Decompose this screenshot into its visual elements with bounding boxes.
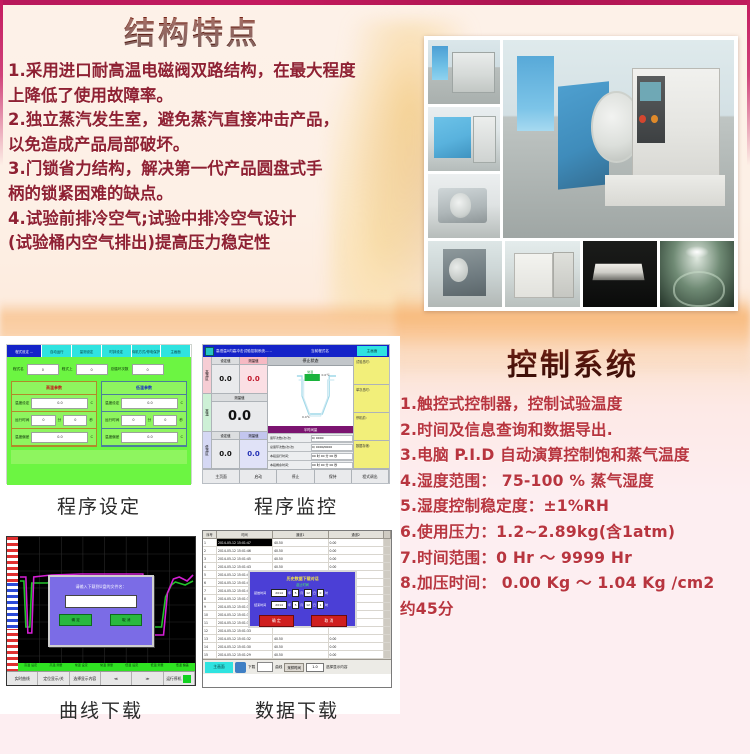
p2-main-screen-button[interactable]: 主画面 <box>357 346 387 356</box>
p1-param-label: 温度偏差 <box>15 435 29 440</box>
p2-high-temp-group: 高温区 设定值 0.0 测量值 0.0 <box>203 357 267 394</box>
cell-scroll <box>384 627 391 634</box>
p1-high-temp-group: 高温参数 温度设定 0.0 C 运行时间 0 分 0 秒 温度偏差 <box>11 381 97 447</box>
p1-param-unit: 分 <box>148 418 152 423</box>
p3-cancel-button[interactable]: 取 消 <box>110 614 142 626</box>
cell-time: 2014-05-12 15:01:30 <box>217 643 273 650</box>
p2-cell-measured: 测量值 0.0 <box>239 432 267 468</box>
cell-index: 15 <box>203 651 217 658</box>
p1-param-input[interactable]: 0 <box>121 415 145 426</box>
cell-index: 12 <box>203 627 217 634</box>
cell-scroll <box>384 571 391 578</box>
p1-tab-measure-setting[interactable]: 量测设定 <box>72 345 102 357</box>
feature-line: 3.门锁省力结构，解决第一代产品圆盘式手 <box>8 157 406 182</box>
p4-month-unit: 月 <box>300 591 303 595</box>
p4-ok-button[interactable]: 确 定 <box>259 615 295 627</box>
cell-ch2: 0.00 <box>329 563 385 570</box>
cell-scroll <box>384 611 391 618</box>
p4-interval-label: 采样时间 <box>284 663 304 672</box>
p2-side-info-column: 试验总时： 单次总时： 停机前： 数据存储： <box>353 357 389 469</box>
cell-index: 11 <box>203 619 217 626</box>
cell-ch1: 40.50 <box>273 643 329 650</box>
table-row[interactable]: 14 2014-05-12 15:01:30 40.50 0.00 <box>203 643 391 651</box>
p4-row-label: 起始时间 <box>254 591 270 595</box>
p2-cell-measured: 测量值 0.0 <box>211 394 267 430</box>
p3-scale-blue <box>7 583 18 629</box>
p2-info-row: 总循环次数(次/次) 0/ 0000/0000 <box>268 442 353 451</box>
p3-ok-button[interactable]: 确 定 <box>59 614 91 626</box>
cell-scroll <box>384 579 391 586</box>
p1-param-row: 运行时间 0 分 0 秒 <box>12 412 96 429</box>
p1-field-label: 程式名 <box>13 367 24 372</box>
caption-program-monitor: 程序监控 <box>202 492 390 519</box>
p1-footer-strip <box>11 450 187 464</box>
cell-ch2: 0.00 <box>329 651 385 658</box>
cell-ch2: 0.00 <box>329 547 385 554</box>
p4-day-input[interactable]: 12 <box>304 601 312 609</box>
p2-section-title: 半时间量 <box>268 426 353 433</box>
p1-param-unit: 分 <box>58 418 62 423</box>
features-list: 1.采用进口耐高温电磁阀双路结构，在最大程度 上降低了使用故障率。 2.独立蒸汽… <box>0 59 412 256</box>
p2-graph-top-label: 0.0℃ <box>322 373 330 377</box>
p2-side-box-label: 试验总时： <box>356 360 372 364</box>
p2-status-label: 停止状态 <box>268 357 353 366</box>
p1-param-row: 温度设定 0.0 C <box>102 395 186 412</box>
cell-time: 2014-05-12 15:01:33 <box>217 627 273 634</box>
p1-field-input[interactable]: 0 <box>132 364 164 375</box>
p3-button-realtime-curve[interactable]: 实时曲线 <box>7 672 38 685</box>
cell-time: 2014-05-12 15:01:29 <box>217 651 273 658</box>
p1-param-label: 运行时间 <box>105 418 119 423</box>
control-system-section: 控制系统 1.触控式控制器，控制试验温度 2.时间及信息查询和数据导出. 3.电… <box>396 340 750 622</box>
cell-time: 2014-05-12 15:01:43 <box>217 563 273 570</box>
p2-graph-bottom-label: 0.0℃ <box>302 415 310 419</box>
p1-param-row: 温度偏差 0.0 C <box>102 429 186 446</box>
p2-info-label: 本段运行时间： <box>268 454 311 458</box>
caption-curve-download: 曲线下载 <box>6 696 196 723</box>
collage-left-column <box>428 40 500 238</box>
cell-index: 6 <box>203 579 217 586</box>
p3-filename-dialog: 请输入下载到U盘的文件名： 确 定 取 消 <box>48 575 153 646</box>
cell-scroll <box>384 643 391 650</box>
p2-side-box: 单次总时： <box>354 385 389 413</box>
control-line: 8.加压时间： 0.00 Kg ～ 1.04 Kg /cm2 <box>400 571 750 597</box>
p2-info-value: 0/ 0000 <box>311 435 353 442</box>
cell-scroll <box>384 539 391 546</box>
table-row[interactable]: 2 2014-05-12 15:01:46 40.50 0.00 <box>203 547 391 555</box>
p2-cell-header: 设定值 <box>212 432 239 440</box>
p4-interval-input[interactable]: 1.0 <box>306 663 324 672</box>
p1-field-input[interactable]: 0 <box>27 364 59 375</box>
p4-year-unit: 年 <box>288 591 291 595</box>
photo-inner-tunnel <box>660 241 734 307</box>
control-line: 5.湿度控制稳定度：±1%RH <box>400 494 750 520</box>
p1-parameter-columns: 高温参数 温度设定 0.0 C 运行时间 0 分 0 秒 温度偏差 <box>11 381 187 447</box>
p3-run-stop-label: 运行停机 <box>166 676 181 682</box>
p2-side-box-label: 单次总时： <box>356 388 372 392</box>
p4-table-header: 序号 时间 通道1 通道2 <box>203 531 391 539</box>
cell-time: 2014-05-12 15:01:47 <box>217 539 273 546</box>
table-row[interactable]: 15 2014-05-12 15:01:29 40.50 0.00 <box>203 651 391 659</box>
p2-graph-badge: 常温 <box>307 370 313 374</box>
cell-ch2: 0.00 <box>329 643 385 650</box>
p2-info-value: 0/ 0000/0000 <box>311 444 353 451</box>
control-line: 7.时间范围：0 Hr ～ 9999 Hr <box>400 546 750 572</box>
cell-scroll <box>384 619 391 626</box>
p4-day-input[interactable]: 12 <box>304 589 312 597</box>
p3-legend: 高温 设定 高温 测量 常温 设定 常温 测量 低温 设定 低温 测量 低温 偏… <box>18 663 195 671</box>
p1-param-label: 温度设定 <box>105 401 119 406</box>
cell-index: 9 <box>203 603 217 610</box>
p1-tab-main-screen[interactable]: 主画面 <box>161 345 191 357</box>
p2-cell-value: 0.0 <box>212 402 267 430</box>
p2-title-bar: 高低温0内高冲击试验控制系统...... 当前程式名 主画面 <box>203 345 389 357</box>
p2-current-program-label: 当前程式名 <box>311 349 357 354</box>
caption-program-setting: 程序设定 <box>6 492 192 519</box>
p1-param-label: 温度偏差 <box>105 435 119 440</box>
p1-param-input[interactable]: 0 <box>31 415 55 426</box>
p2-graph-column: 停止状态 常温 0.0℃ 0.0℃ 半时间量 循环次数(次/次) 0/ 00 <box>267 357 353 469</box>
control-line: 1.触控式控制器，控制试验温度 <box>400 392 750 418</box>
p4-dialog-start-row: 起始时间 2014 年 5 月 12 日 0 时 <box>250 587 355 599</box>
p1-tab-auto-run[interactable]: 自动运行 <box>42 345 72 357</box>
p2-cell-value: 0.0 <box>240 440 267 468</box>
p1-group-header: 低温参数 <box>102 382 186 395</box>
feature-line: 柄的锁紧困难的缺点。 <box>8 182 406 207</box>
p1-param-unit: C <box>180 401 183 405</box>
p1-param-unit-2: 秒 <box>179 418 183 423</box>
collage-top-row <box>428 40 734 238</box>
cell-index: 10 <box>203 611 217 618</box>
p2-cell-header: 测量值 <box>240 357 267 365</box>
p2-cells: 设定值 0.0 测量值 0.0 <box>211 357 267 393</box>
cell-index: 14 <box>203 643 217 650</box>
p4-hour-input[interactable]: 0 <box>317 589 324 597</box>
cell-index: 2 <box>203 547 217 554</box>
table-row[interactable]: 12 2014-05-12 15:01:33 <box>203 627 391 635</box>
p1-field-label: 程式上 <box>62 367 73 372</box>
photo-chamber-room-view <box>428 40 500 104</box>
cell-index: 7 <box>203 587 217 594</box>
photo-small-chamber <box>428 174 500 238</box>
cell-ch1: 40.50 <box>273 547 329 554</box>
cell-time: 2014-05-12 15:01:46 <box>217 547 273 554</box>
p2-cell-value: 0.0 <box>212 365 239 393</box>
table-row[interactable]: 1 2014-05-12 15:01:47 40.50 0.00 <box>203 539 391 547</box>
p4-history-download-dialog: 历史数据下载对话 起止时间 起始时间 2014 年 5 月 12 日 0 时 结… <box>248 570 357 628</box>
p4-day-unit: 日 <box>313 603 316 607</box>
p4-table-body: 1 2014-05-12 15:01:47 40.50 0.00 2 2014-… <box>203 539 391 659</box>
run-indicator-icon <box>183 675 191 683</box>
p1-param-input[interactable]: 0.0 <box>121 398 178 409</box>
p1-param-unit: C <box>180 435 183 439</box>
p1-group-header: 高温参数 <box>12 382 96 395</box>
p3-legend-item: 低温 测量 <box>144 663 169 671</box>
p2-cells: 设定值 0.0 测量值 0.0 <box>211 432 267 468</box>
control-heading: 控制系统 <box>396 340 750 384</box>
cell-scroll <box>384 587 391 594</box>
p3-dialog-prompt: 请输入下载到U盘的文件名： <box>50 577 151 590</box>
p1-tab-standby-mode[interactable]: 待机方式/停电保护 <box>132 345 162 357</box>
p2-side-box: 数据存储： <box>354 441 389 469</box>
p2-cycle-diagram: 常温 0.0℃ 0.0℃ <box>268 366 353 426</box>
p2-cell-value: 0.0 <box>212 440 239 468</box>
p1-tab-bar: 程式设定 ... 自动运行 量测设定 时钟设定 待机方式/停电保护 主画面 <box>7 345 191 357</box>
p2-side-box: 停机前： <box>354 413 389 441</box>
cell-ch1 <box>273 627 329 634</box>
feature-line: 4.试验前排冷空气;试验中排冷空气设计 <box>8 207 406 232</box>
p2-button-home[interactable]: 主页面 <box>203 470 240 483</box>
top-border <box>0 0 750 5</box>
p1-param-unit: C <box>90 435 93 439</box>
cell-ch2 <box>329 627 385 634</box>
control-line: 2.时间及信息查询和数据导出. <box>400 418 750 444</box>
p4-toolbar: 主画面 下载 曲线 采样时间 1.0 选择显示内容 <box>203 659 391 674</box>
photo-main-open-door <box>503 40 734 238</box>
p1-param-input[interactable]: 0.0 <box>31 398 88 409</box>
p4-home-button[interactable]: 主画面 <box>205 662 233 673</box>
hmi-data-download-screenshot: 序号 时间 通道1 通道2 1 2014-05-12 15:01:47 40.5… <box>202 530 392 688</box>
cell-index: 3 <box>203 555 217 562</box>
control-line: 4.湿度范围： 75-100 % 蒸气湿度 <box>400 469 750 495</box>
p3-button-bar: 实时曲线 定位显示/关 选择显示内容 ≪ ≫ 运行停机 <box>7 671 195 685</box>
p3-legend-item: 高温 设定 <box>18 663 43 671</box>
feature-line: 1.采用进口耐高温电磁阀双路结构，在最大程度 <box>8 59 406 84</box>
app-icon <box>205 347 214 356</box>
p2-info-row: 循环次数(次/次) 0/ 0000 <box>268 433 353 442</box>
table-row[interactable]: 13 2014-05-12 15:01:32 40.50 0.00 <box>203 635 391 643</box>
p3-button-run-stop[interactable]: 运行停机 <box>164 672 195 685</box>
p1-low-temp-group: 低温参数 温度设定 0.0 C 运行时间 0 分 0 秒 温度偏差 <box>101 381 187 447</box>
p4-year-unit: 年 <box>288 603 291 607</box>
cell-ch2: 0.00 <box>329 555 385 562</box>
p2-button-start[interactable]: 启动 <box>240 470 277 483</box>
control-line: 3.电脑 P.I.D 自动演算控制饱和蒸气温度 <box>400 443 750 469</box>
feature-line: (试验桶内空气排出)提高压力稳定性 <box>8 231 406 256</box>
p2-info-label: 总循环次数(次/次) <box>268 445 311 449</box>
cell-index: 5 <box>203 571 217 578</box>
cell-ch1: 40.50 <box>273 539 329 546</box>
p4-dialog-end-row: 结束时间 2014 年 5 月 12 日 1 时 <box>250 599 355 611</box>
p4-row-label: 结束时间 <box>254 603 270 607</box>
p1-field-input[interactable]: 0 <box>76 364 108 375</box>
photo-white-unit <box>505 241 579 307</box>
p1-param-input-2[interactable]: 0 <box>153 415 177 426</box>
cell-ch1: 40.50 <box>273 635 329 642</box>
p4-curve-label: 曲线 <box>275 665 282 670</box>
p3-legend-item: 常温 设定 <box>69 663 94 671</box>
p3-legend-item: 低温 偏差 <box>170 663 195 671</box>
cell-index: 13 <box>203 635 217 642</box>
p2-cell-setpoint: 设定值 0.0 <box>211 432 239 468</box>
p1-param-label: 温度设定 <box>15 401 29 406</box>
p1-param-row: 温度设定 0.0 C <box>12 395 96 412</box>
p4-col-index: 序号 <box>203 531 217 538</box>
p1-param-row: 运行时间 0 分 0 秒 <box>102 412 186 429</box>
cell-scroll <box>384 555 391 562</box>
p3-filename-input[interactable] <box>65 595 138 608</box>
p2-side-box: 试验总时： <box>354 357 389 385</box>
p4-col-ch2: 通道2 <box>329 531 385 538</box>
control-line: 6.使用压力：1.2~2.89kg(含1atm) <box>400 520 750 546</box>
p4-month-input[interactable]: 5 <box>292 589 299 597</box>
p2-info-value: 00 时 00 分 00 秒 <box>311 453 353 460</box>
p2-low-temp-group: 低温区 设定值 0.0 测量值 0.0 <box>203 432 267 469</box>
hmi-program-monitor-screenshot: 高低温0内高冲击试验控制系统...... 当前程式名 主画面 高温区 设定值 0… <box>202 344 390 484</box>
p2-readout-column: 高温区 设定值 0.0 测量值 0.0 常温 <box>203 357 267 469</box>
p2-button-hold[interactable]: 保持 <box>315 470 352 483</box>
p4-month-unit: 月 <box>300 603 303 607</box>
p2-cell-measured: 测量值 0.0 <box>239 357 267 393</box>
feature-line: 以免造成产品局部破坏。 <box>8 133 406 158</box>
p1-param-input[interactable]: 0.0 <box>121 432 178 443</box>
p4-year-input[interactable]: 2014 <box>271 601 287 609</box>
p4-scrollbar-top[interactable] <box>384 531 391 538</box>
p2-cell-header: 测量值 <box>240 432 267 440</box>
cell-index: 1 <box>203 539 217 546</box>
p2-cell-header: 设定值 <box>212 357 239 365</box>
cell-time: 2014-05-12 15:01:45 <box>217 555 273 562</box>
control-list: 1.触控式控制器，控制试验温度 2.时间及信息查询和数据导出. 3.电脑 P.I… <box>396 392 750 622</box>
p2-cell-value: 0.0 <box>240 365 267 393</box>
cell-ch1: 40.50 <box>273 563 329 570</box>
p4-download-label: 下载 <box>248 665 255 670</box>
p4-year-input[interactable]: 2014 <box>271 589 287 597</box>
features-heading: 结构特点 <box>0 8 412 53</box>
p3-legend-item: 低温 设定 <box>119 663 144 671</box>
p2-side-box-label: 停机前： <box>356 416 369 420</box>
feature-line: 上降低了使用故障率。 <box>8 84 406 109</box>
cell-scroll <box>384 547 391 554</box>
photo-inner-tray <box>583 241 657 307</box>
cycle-profile-svg <box>268 366 353 426</box>
p3-dialog-buttons: 确 定 取 消 <box>50 614 151 626</box>
p2-button-bar: 主页面 启动 停止 保持 程式调出 <box>203 469 389 483</box>
p2-info-value: 00 时 00 分 00 秒 <box>311 462 353 469</box>
product-feature-page: 结构特点 1.采用进口耐高温电磁阀双路结构，在最大程度 上降低了使用故障率。 2… <box>0 0 750 754</box>
p2-group-side-label: 高温区 <box>203 357 211 393</box>
cell-index: 4 <box>203 563 217 570</box>
structure-features-section: 结构特点 1.采用进口耐高温电磁阀双路结构，在最大程度 上降低了使用故障率。 2… <box>0 8 412 256</box>
p2-group-side-label: 低温区 <box>203 432 211 468</box>
p4-day-unit: 日 <box>313 591 316 595</box>
p4-cancel-button[interactable]: 取 消 <box>311 615 347 627</box>
hmi-curve-download-screenshot: 高温 设定 高温 测量 常温 设定 常温 测量 低温 设定 低温 测量 低温 偏… <box>6 536 196 686</box>
p3-button-prev[interactable]: ≪ <box>101 672 132 685</box>
p4-dialog-title: 历史数据下载对话 <box>250 572 355 582</box>
cell-scroll <box>384 603 391 610</box>
p3-button-next[interactable]: ≫ <box>132 672 163 685</box>
photo-grey-unit <box>428 241 502 307</box>
p3-legend-item: 常温 测量 <box>94 663 119 671</box>
p2-group-side-label: 常温 <box>203 394 211 430</box>
p2-button-stop[interactable]: 停止 <box>277 470 314 483</box>
table-row[interactable]: 3 2014-05-12 15:01:45 40.50 0.00 <box>203 555 391 563</box>
feature-line: 2.独立蒸汽发生室，避免蒸汽直接冲击产品， <box>8 108 406 133</box>
p4-col-time: 时间 <box>217 531 273 538</box>
p2-cell-header: 测量值 <box>212 394 267 402</box>
control-line: 约45分 <box>400 597 750 623</box>
cell-ch1: 40.50 <box>273 555 329 562</box>
cell-scroll <box>384 635 391 642</box>
p3-button-locate-toggle[interactable]: 定位显示/关 <box>38 672 69 685</box>
p1-field-label: 总循环次数 <box>111 367 129 372</box>
p1-param-input[interactable]: 0.0 <box>31 432 88 443</box>
p3-button-select-content[interactable]: 选择显示内容 <box>70 672 101 685</box>
p3-legend-item: 高温 测量 <box>43 663 68 671</box>
collage-bottom-row <box>428 241 734 307</box>
p1-tab-clock-setting[interactable]: 时钟设定 <box>102 345 132 357</box>
cell-ch2: 0.00 <box>329 539 385 546</box>
p2-main-area: 高温区 设定值 0.0 测量值 0.0 常温 <box>203 357 389 469</box>
p2-info-table: 循环次数(次/次) 0/ 0000 总循环次数(次/次) 0/ 0000/000… <box>268 433 353 469</box>
cell-scroll <box>384 563 391 570</box>
p2-info-label: 本段剩余时间： <box>268 463 311 467</box>
p4-col-ch1: 通道1 <box>273 531 329 538</box>
p1-tab-program-setting[interactable]: 程式设定 ... <box>7 345 42 357</box>
cell-ch1: 40.50 <box>273 651 329 658</box>
p2-info-row: 本段剩余时间： 00 时 00 分 00 秒 <box>268 460 353 469</box>
caption-data-download: 数据下载 <box>202 696 392 723</box>
p2-cell-setpoint: 设定值 0.0 <box>211 357 239 393</box>
p2-button-recall[interactable]: 程式调出 <box>352 470 389 483</box>
cell-ch2: 0.00 <box>329 635 385 642</box>
download-icon[interactable] <box>235 662 246 673</box>
p4-select-content-button[interactable]: 选择显示内容 <box>326 665 348 670</box>
p1-param-label: 运行时间 <box>15 418 29 423</box>
curve-icon[interactable] <box>257 662 273 672</box>
cell-scroll <box>384 651 391 658</box>
p1-param-unit-2: 秒 <box>89 418 93 423</box>
p3-wrap: 高温 设定 高温 测量 常温 设定 常温 测量 低温 设定 低温 测量 低温 偏… <box>7 537 195 685</box>
p2-info-row: 本段运行时间： 00 时 00 分 00 秒 <box>268 451 353 460</box>
p2-normal-temp-group: 常温 测量值 0.0 <box>203 394 267 431</box>
photo-blue-door-unit <box>428 107 500 171</box>
cell-index: 8 <box>203 595 217 602</box>
p2-info-label: 循环次数(次/次) <box>268 436 311 440</box>
p1-param-row: 温度偏差 0.0 C <box>12 429 96 446</box>
p4-month-input[interactable]: 5 <box>292 601 299 609</box>
p4-hour-unit: 时 <box>325 591 328 595</box>
p2-cells: 测量值 0.0 <box>211 394 267 430</box>
p1-param-input-2[interactable]: 0 <box>63 415 87 426</box>
product-photo-collage <box>424 36 738 311</box>
p1-param-unit: C <box>90 401 93 405</box>
cell-scroll <box>384 595 391 602</box>
p4-hour-unit: 时 <box>325 603 328 607</box>
p1-top-fields: 程式名 0 程式上 0 总循环次数 0 <box>11 361 187 378</box>
cell-time: 2014-05-12 15:01:32 <box>217 635 273 642</box>
hmi-program-setting-screenshot: 程式设定 ... 自动运行 量测设定 时钟设定 待机方式/停电保护 主画面 程式… <box>6 344 192 484</box>
p2-side-box-label: 数据存储： <box>356 444 372 448</box>
p4-hour-input[interactable]: 1 <box>317 601 324 609</box>
p2-title-text: 高低温0内高冲击试验控制系统...... <box>216 349 311 354</box>
p1-body: 程式名 0 程式上 0 总循环次数 0 高温参数 温度设定 0.0 C 运行时间 <box>7 357 191 485</box>
p4-dialog-buttons: 确 定 取 消 <box>250 615 355 627</box>
